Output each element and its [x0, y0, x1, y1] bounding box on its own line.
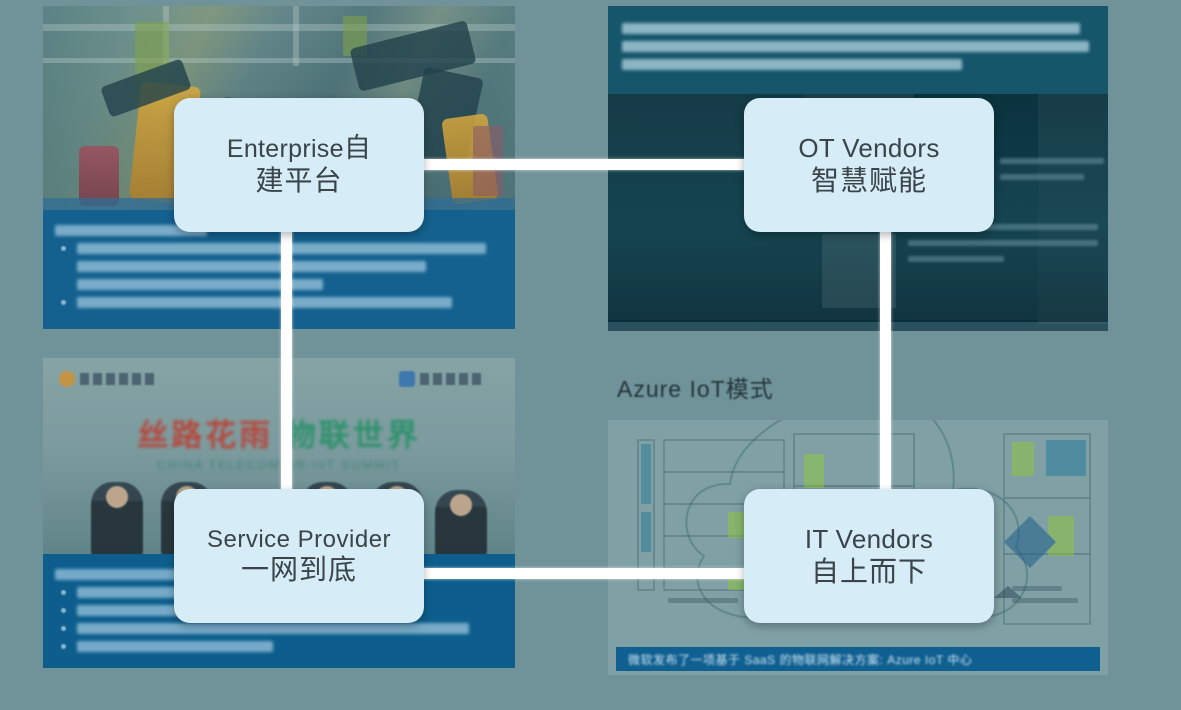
sp-caption-bullet-1-text: 携手树立企业... [55, 659, 56, 660]
node-enterprise-line2: 建平台 [255, 164, 342, 197]
node-enterprise-platform[interactable]: Enterprise自 建平台 [174, 98, 424, 232]
azure-caption-bar: 微软发布了一项基于 SaaS 的物联网解决方案: Azure IoT 中心 [616, 647, 1100, 671]
node-sp-line2: 一网到底 [241, 553, 357, 586]
connector-ot-to-itvendors [880, 200, 891, 520]
node-enterprise-cn-suffix: 自 [344, 133, 371, 163]
enterprise-caption-bullet-1-text: 设备360度全方位...数字化...资料...资产管理、远程协同、二手交易、设备… [55, 315, 56, 316]
caption-bullet [55, 243, 503, 254]
mindsphere-text-block: 西门子基于云的物联网操作系统MindSphere。借助MindSphere，西门… [608, 6, 1108, 94]
slide-canvas: 三一重工发布工业... 设备360度全方位...数字化...资料...资产管理、… [0, 0, 1181, 710]
sp-caption-bullet-2-text: 10家智测终端... [55, 659, 56, 660]
sp-caption-bullet-4-text: 200家重要客户。 [55, 659, 56, 660]
node-sp-line1: Service Provider [207, 526, 391, 554]
node-it-line1: IT Vendors [805, 524, 933, 554]
stage-banner: 丝路花雨 物联世界 CHINA TELECOM NB-IoT SUMMIT [43, 410, 515, 472]
azure-iot-title: Azure IoT模式 [617, 370, 774, 404]
node-ot-line2: 智慧赋能 [811, 164, 927, 197]
connector-enterprise-to-ot [395, 159, 775, 170]
azure-caption-text: 微软发布了一项基于 SaaS 的物联网解决方案: Azure IoT 中心 [628, 651, 972, 668]
node-it-line2: 自上而下 [811, 555, 927, 588]
node-enterprise-line1: Enterprise自 [227, 133, 371, 164]
node-ot-vendors[interactable]: OT Vendors 智慧赋能 [744, 98, 994, 232]
tianyi-iot-logo [59, 370, 169, 388]
mindsphere-body-text: 西门子基于云的物联网操作系统MindSphere。借助MindSphere，西门… [622, 77, 623, 78]
node-service-provider[interactable]: Service Provider 一网到底 [174, 489, 424, 623]
caption-bullet [55, 623, 503, 634]
node-ot-line1: OT Vendors [798, 133, 939, 163]
banner-text-red: 丝路花雨 [137, 418, 273, 453]
caption-bullet [55, 297, 503, 308]
connector-serviceprovider-to-it [395, 568, 775, 579]
caption-bullet [55, 641, 503, 652]
node-enterprise-en: Enterprise [227, 135, 344, 163]
node-it-vendors[interactable]: IT Vendors 自上而下 [744, 489, 994, 623]
banner-text-green: 物联世界 [285, 418, 421, 453]
enterprise-caption-bullet-2-text: 已接入近30万台设备，实时采集5000个运行参数。 [55, 315, 56, 316]
sp-caption-bullet-3-text: 200家天翼物联产业联盟合作伙伴。 [55, 659, 56, 660]
connector-enterprise-to-serviceprovider [281, 200, 292, 520]
enterprise-caption-heading-text: 三一重工发布工业... [55, 315, 56, 316]
sp-caption-heading-text: 中国电信股份有限公司... [55, 659, 56, 660]
china-telecom-logo [399, 370, 499, 388]
